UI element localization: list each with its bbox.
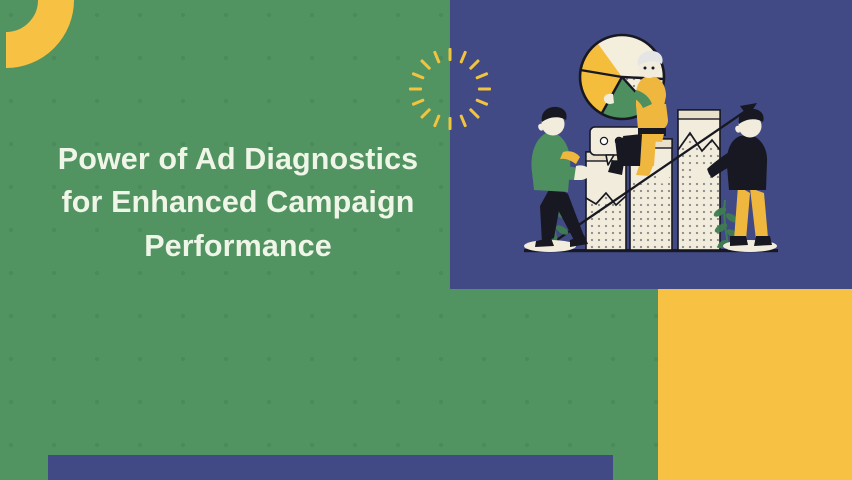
bar-3 [678,110,720,250]
yellow-corner-block [658,289,852,480]
slide-canvas: Power of Ad Diagnostics for Enhanced Cam… [0,0,852,480]
page-title: Power of Ad Diagnostics for Enhanced Cam… [34,138,442,268]
quarter-donut-arc-icon [0,0,74,68]
business-analytics-illustration [450,0,852,289]
sunburst-ray [409,88,422,91]
sunburst-ray [412,72,425,80]
title-line-1: Power of Ad Diagnostics [34,138,442,181]
sunburst-ray [420,59,431,70]
title-line-3: Performance [34,225,442,268]
sunburst-ray [433,114,441,127]
person-pushing-bar [524,107,590,252]
sunburst-ray [420,108,431,119]
navy-footer-bar [48,455,613,480]
sunburst-ray [433,51,441,64]
title-line-2: for Enhanced Campaign [34,181,442,224]
sunburst-ray [412,98,425,106]
